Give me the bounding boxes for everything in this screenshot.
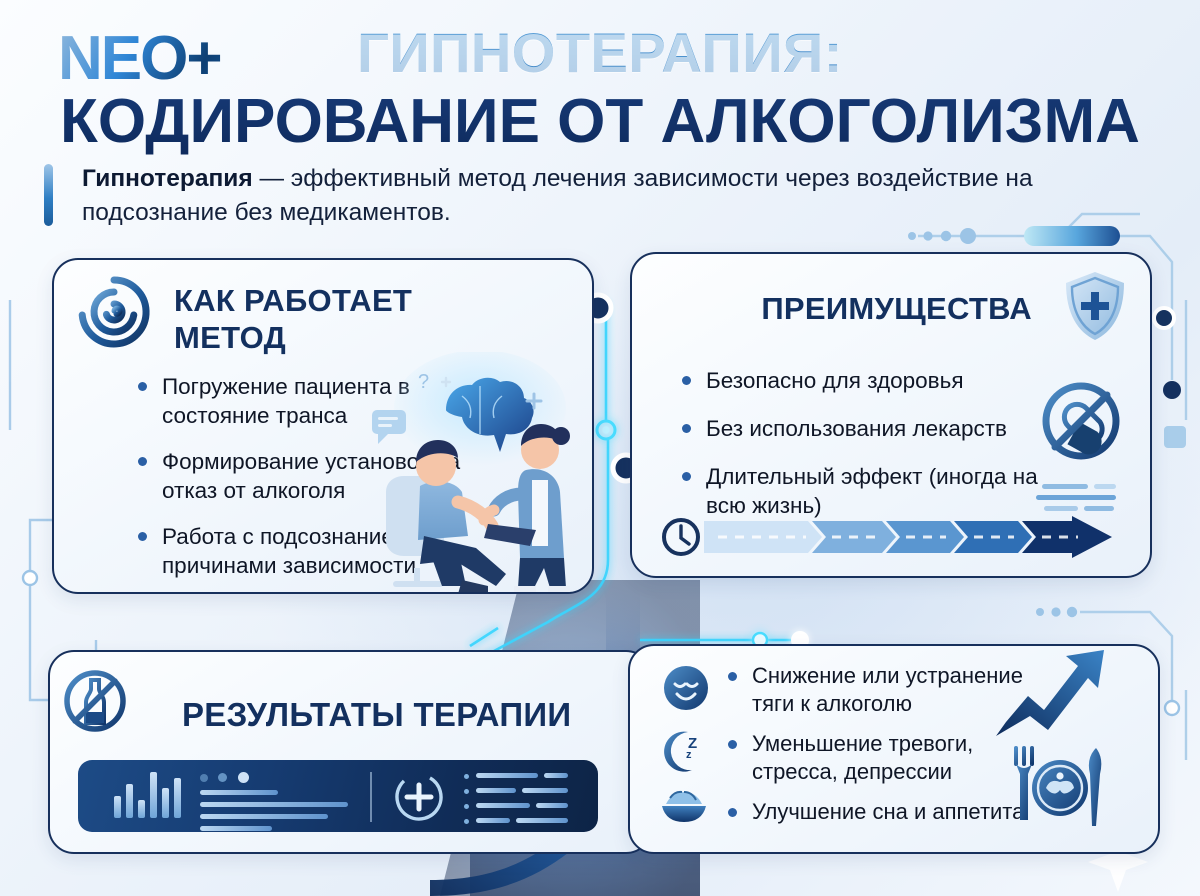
- card-therapy-results[interactable]: РЕЗУЛЬТАТЫ ТЕРАПИИ: [48, 650, 652, 854]
- hypnosis-spiral-icon: [76, 274, 152, 350]
- list-item: Безопасно для здоровья: [680, 366, 1080, 395]
- svg-text:?: ?: [418, 371, 429, 393]
- page-title: ГИПНОТЕРАПИЯ: КОДИРОВАНИЕ ОТ АЛКОГОЛИЗМА: [0, 22, 1200, 158]
- panel-bar: [126, 784, 133, 818]
- shield-plus-icon: [1062, 270, 1128, 342]
- title-line-1: ГИПНОТЕРАПИЯ:: [0, 22, 1200, 84]
- panel-divider: [370, 772, 372, 822]
- card-advantages[interactable]: ПРЕИМУЩЕСТВА Безопасно для здоровья Без …: [630, 252, 1152, 578]
- panel-line: [516, 818, 568, 823]
- healthy-plate-icon: [1006, 742, 1110, 834]
- panel-dot: [238, 772, 249, 783]
- panel-line: [200, 790, 278, 795]
- panel-line: [544, 773, 568, 778]
- food-bowl-icon: [658, 784, 710, 828]
- no-alcohol-icon: [62, 668, 128, 734]
- panel-bar: [174, 778, 181, 818]
- subtitle: Гипнотерапия — эффективный метод лечения…: [60, 162, 1122, 230]
- panel-bar: [114, 796, 121, 818]
- panel-line: [536, 803, 568, 808]
- panel-line: [476, 773, 538, 778]
- results-data-panel: [78, 760, 598, 832]
- plus-circle-icon: [392, 770, 446, 824]
- panel-bar: [162, 788, 169, 818]
- card-therapy-results-list[interactable]: Снижение или устранение тяги к алкоголю …: [628, 644, 1160, 854]
- card-2-title: ПРЕИМУЩЕСТВА: [761, 290, 1032, 327]
- calm-face-icon: [662, 664, 710, 712]
- subtitle-bold: Гипнотерапия: [82, 165, 253, 192]
- duration-timeline-arrow: [660, 516, 1112, 558]
- panel-line: [476, 788, 516, 793]
- list-item: Без использования лекарств: [680, 414, 1080, 443]
- panel-dot: [464, 774, 469, 779]
- title-line-2: КОДИРОВАНИЕ ОТ АЛКОГОЛИЗМА: [0, 86, 1200, 158]
- panel-line: [476, 803, 530, 808]
- card-3-title: РЕЗУЛЬТАТЫ ТЕРАПИИ: [182, 696, 571, 734]
- panel-dot: [464, 789, 469, 794]
- card-2-bullet-list: Безопасно для здоровья Без использования…: [680, 366, 1080, 539]
- svg-text:z: z: [686, 749, 692, 761]
- no-pills-icon: [1038, 378, 1124, 464]
- panel-dot: [464, 819, 469, 824]
- therapy-session-illustration: ?: [362, 352, 594, 592]
- panel-line: [200, 814, 328, 819]
- panel-line: [200, 826, 272, 831]
- panel-dot: [464, 804, 469, 809]
- infographic-canvas: NEO+ ГИПНОТЕРАПИЯ: КОДИРОВАНИЕ ОТ АЛКОГО…: [0, 0, 1200, 896]
- growth-arrow-icon: [992, 644, 1112, 746]
- subtitle-accent-bar: [44, 164, 53, 226]
- panel-line: [522, 788, 568, 793]
- panel-dot: [218, 773, 227, 782]
- moon-sleep-icon: Z z: [658, 726, 714, 774]
- panel-dot: [200, 774, 208, 782]
- list-item: Длительный эффект (иногда на всю жизнь): [680, 462, 1080, 520]
- panel-line: [200, 802, 348, 807]
- panel-line: [476, 818, 510, 823]
- panel-bar: [138, 800, 145, 818]
- panel-bar: [150, 772, 157, 818]
- decorative-text-lines: [1036, 482, 1120, 516]
- card-1-title: КАК РАБОТАЕТ МЕТОД: [174, 282, 494, 356]
